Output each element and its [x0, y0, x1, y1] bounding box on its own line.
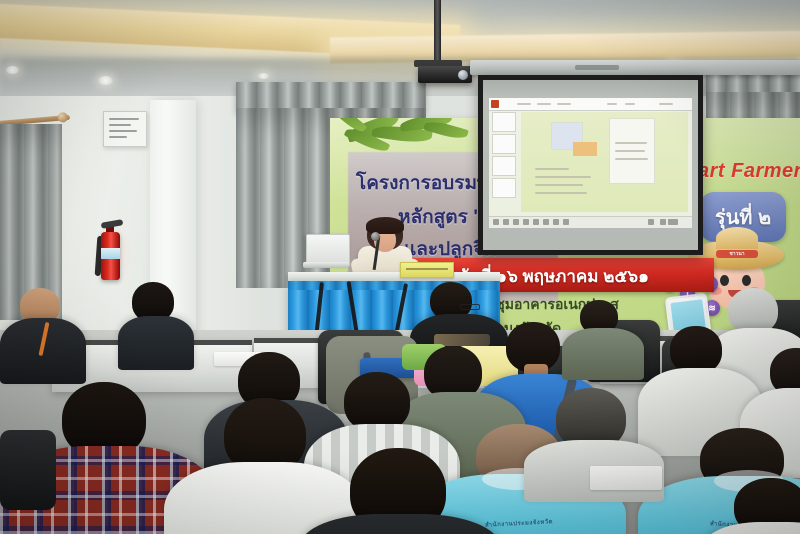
projector-lens-icon	[458, 70, 468, 80]
glasses-icon	[460, 304, 480, 310]
downlight-icon	[98, 76, 113, 85]
laptop-base	[303, 262, 349, 268]
projector-mount-pole	[434, 0, 441, 62]
head	[344, 372, 410, 432]
slide-accent	[573, 142, 597, 156]
screen-roller-housing	[470, 60, 800, 75]
chair-frame	[0, 430, 56, 510]
slide-thumbnail-panel	[492, 112, 516, 214]
downlight-icon	[6, 66, 19, 74]
fire-extinguisher-icon	[95, 218, 129, 284]
downlight-icon	[258, 73, 269, 79]
projected-slide	[489, 98, 692, 228]
papers-near	[590, 466, 662, 490]
smart-farmer-text: art Farmer	[698, 160, 800, 183]
slide-thumbnail	[492, 112, 516, 132]
hat-band: ชาวนา	[716, 250, 758, 258]
speaker-fringe	[366, 217, 404, 234]
slide-thumbnail	[492, 178, 516, 198]
shoulders	[562, 328, 644, 380]
shoulders	[118, 316, 194, 370]
microphone-icon	[371, 232, 380, 241]
speaker-name-card	[400, 262, 454, 278]
seminar-room-photo: โครงการอบรมพัฒน หลักสูตร "พ และปลูกจิต a…	[0, 0, 800, 534]
hat-band-text: ชาวนา	[716, 250, 758, 258]
windows-taskbar	[489, 216, 692, 228]
wall-notice-sign	[103, 111, 147, 147]
projection-screen	[478, 75, 703, 255]
ceiling-projector	[418, 66, 472, 83]
head	[670, 326, 722, 374]
slide-thumbnail	[492, 156, 516, 176]
slide-thumbnail	[492, 134, 516, 154]
slide-canvas	[521, 112, 688, 212]
powerpoint-logo-icon	[491, 100, 499, 108]
